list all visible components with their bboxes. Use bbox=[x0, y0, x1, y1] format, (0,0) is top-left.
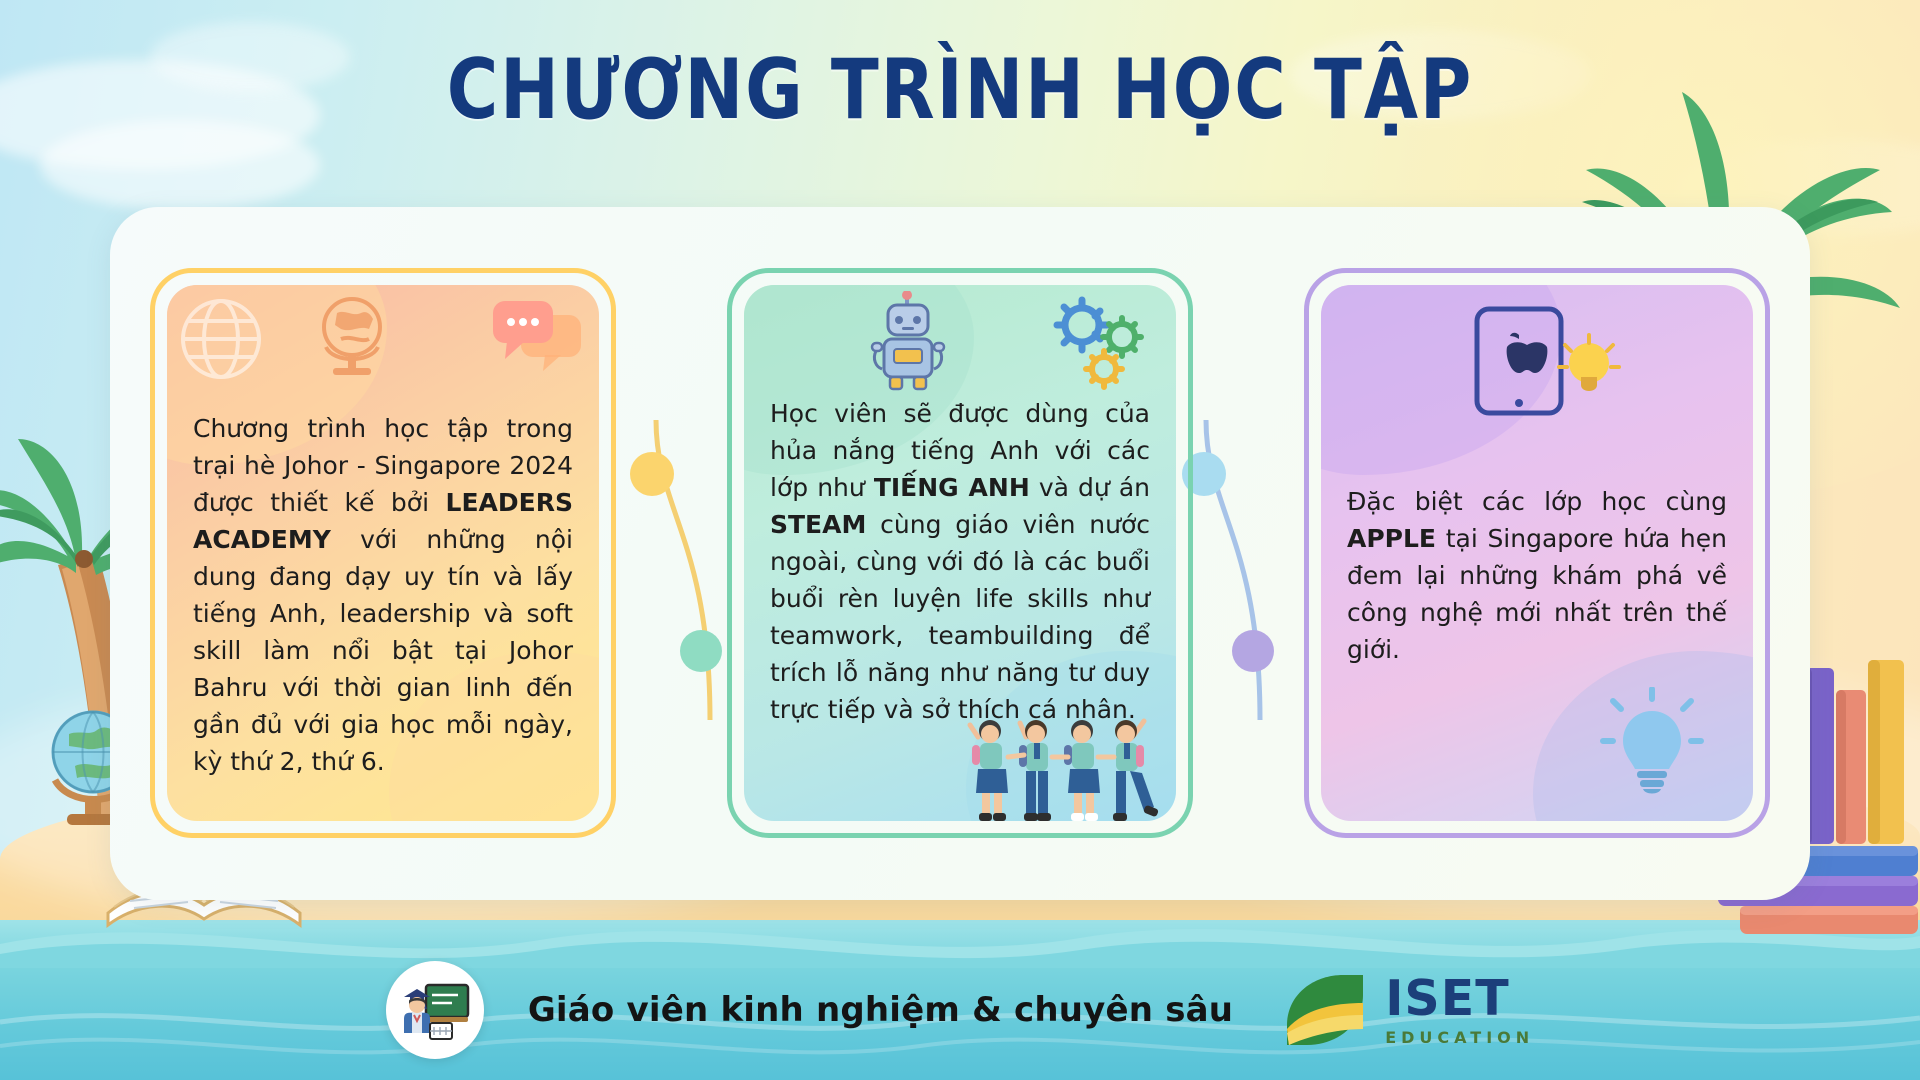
card-2-body: Học viên sẽ được dùng của hủa nắng tiếng… bbox=[744, 285, 1176, 821]
card-2[interactable]: Học viên sẽ được dùng của hủa nắng tiếng… bbox=[727, 268, 1193, 838]
cards-row: Chương trình học tập trong trại hè Johor… bbox=[150, 268, 1770, 838]
iset-leaf-mark bbox=[1277, 967, 1373, 1053]
iset-subtitle: EDUCATION bbox=[1385, 1028, 1534, 1047]
chat-bubble-icon bbox=[487, 297, 587, 377]
globe-stand-icon bbox=[307, 291, 397, 385]
card-2-bold-1: TIẾNG ANH bbox=[874, 473, 1030, 502]
card-1-text-b: với những nội dung đang dạy uy tín và lấ… bbox=[193, 525, 581, 776]
cloud-icon bbox=[40, 120, 320, 210]
iset-logo[interactable]: ISET EDUCATION bbox=[1277, 967, 1534, 1053]
globe-grid-icon bbox=[175, 293, 267, 385]
card-1[interactable]: Chương trình học tập trong trại hè Johor… bbox=[150, 268, 616, 838]
card-3-text: Đặc biệt các lớp học cùng APPLE tại Sing… bbox=[1347, 483, 1727, 668]
poster-canvas: CHƯƠNG TRÌNH HỌC TẬP bbox=[0, 0, 1920, 1080]
card-3[interactable]: Đặc biệt các lớp học cùng APPLE tại Sing… bbox=[1304, 268, 1770, 838]
gears-icon bbox=[1048, 295, 1148, 395]
card-1-text: Chương trình học tập trong trại hè Johor… bbox=[193, 410, 573, 780]
card-1-body: Chương trình học tập trong trại hè Johor… bbox=[167, 285, 599, 821]
robot-icon bbox=[862, 291, 956, 395]
lightbulb-blue-icon bbox=[1597, 687, 1707, 807]
card-3-text-a: Đặc biệt các lớp học cùng bbox=[1347, 487, 1735, 516]
card-3-bold: APPLE bbox=[1347, 524, 1436, 553]
card-2-bold-2: STEAM bbox=[770, 510, 866, 539]
footer: Giáo viên kinh nghiệm & chuyên sâu ISET … bbox=[0, 940, 1920, 1080]
card-2-text-b: cùng giáo viên nước ngoài, cùng với đó l… bbox=[770, 510, 1158, 724]
footer-tagline: Giáo viên kinh nghiệm & chuyên sâu bbox=[528, 990, 1233, 1030]
teacher-blackboard-icon bbox=[386, 961, 484, 1059]
footer-content: Giáo viên kinh nghiệm & chuyên sâu ISET … bbox=[0, 940, 1920, 1080]
tablet-apple-icon bbox=[1463, 303, 1623, 423]
card-2-text: Học viên sẽ được dùng của hủa nắng tiếng… bbox=[770, 395, 1150, 728]
card-3-body: Đặc biệt các lớp học cùng APPLE tại Sing… bbox=[1321, 285, 1753, 821]
students-group-icon bbox=[964, 715, 1164, 821]
iset-name: ISET bbox=[1385, 974, 1534, 1023]
page-title: CHƯƠNG TRÌNH HỌC TẬP bbox=[58, 46, 1863, 133]
card-2-text-mid: và dự án bbox=[1030, 473, 1158, 502]
